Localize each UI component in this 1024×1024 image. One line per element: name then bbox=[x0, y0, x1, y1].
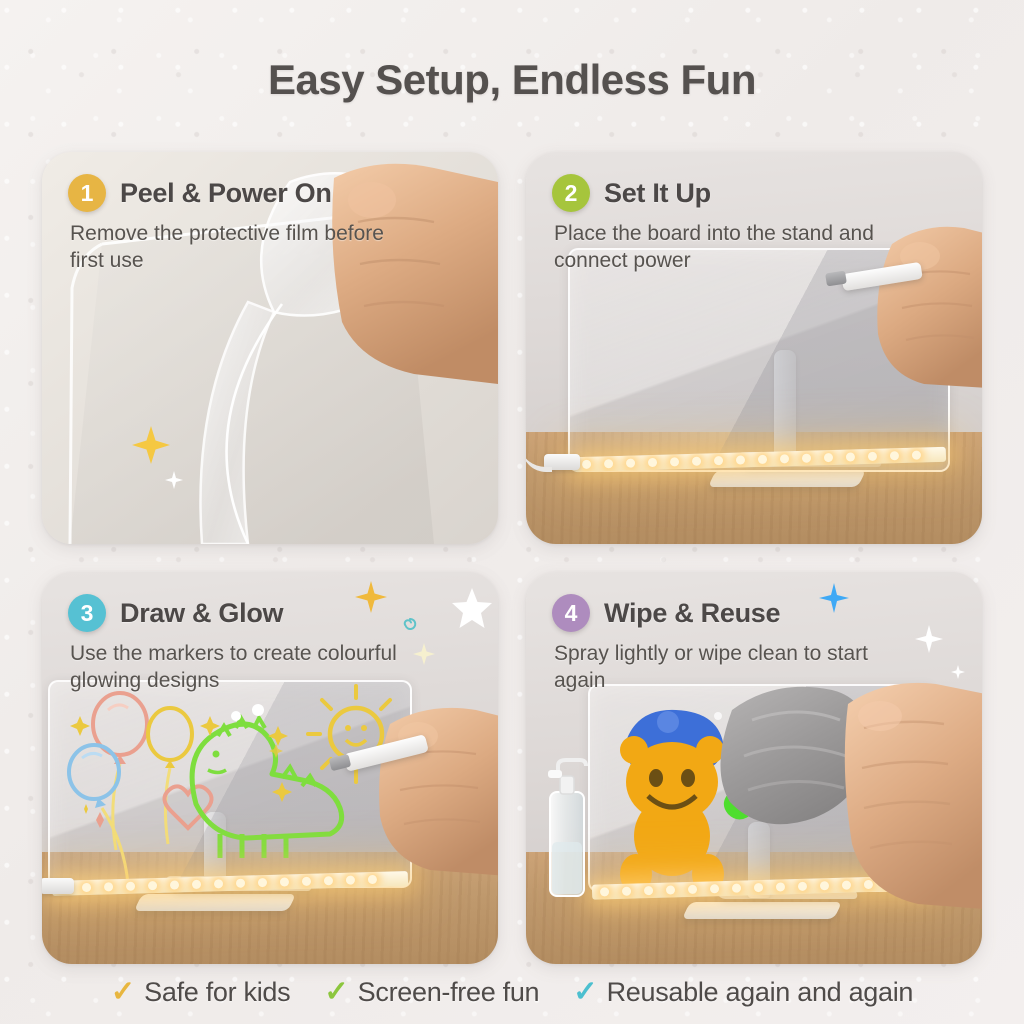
feature-label-3: Reusable again and again bbox=[607, 977, 914, 1008]
swirl-icon-teal-3 bbox=[400, 614, 420, 634]
step-3-description: Use the markers to create colourful glow… bbox=[70, 641, 400, 694]
hand-holding-marker-3 bbox=[338, 700, 498, 880]
feature-item-reusable: ✓ Reusable again and again bbox=[573, 977, 913, 1008]
stand-base-front-3 bbox=[134, 894, 296, 911]
step-2-title-row: 2 Set It Up bbox=[552, 174, 960, 212]
feature-label-1: Safe for kids bbox=[144, 977, 290, 1008]
usb-plug-3 bbox=[42, 878, 74, 894]
step-2-title: Set It Up bbox=[604, 178, 711, 209]
step-2-header: 2 Set It Up Place the board into the sta… bbox=[552, 174, 960, 274]
step-card-4[interactable]: 4 Wipe & Reuse Spray lightly or wipe cle… bbox=[526, 572, 982, 964]
step-card-2[interactable]: 2 Set It Up Place the board into the sta… bbox=[526, 152, 982, 544]
step-3-title: Draw & Glow bbox=[120, 598, 283, 629]
sparkle-icon-cream-3 bbox=[412, 642, 436, 666]
check-icon-2: ✓ bbox=[324, 978, 348, 1007]
step-1-title-row: 1 Peel & Power On bbox=[68, 174, 476, 212]
sparkle-icon-blue-4 bbox=[818, 582, 850, 614]
step-badge-1: 1 bbox=[68, 174, 106, 212]
step-4-header: 4 Wipe & Reuse Spray lightly or wipe cle… bbox=[552, 594, 960, 694]
sparkle-icon-yellow bbox=[130, 424, 172, 466]
step-1-title: Peel & Power On bbox=[120, 178, 332, 209]
step-4-description: Spray lightly or wipe clean to start aga… bbox=[554, 641, 884, 694]
feature-item-safe-for-kids: ✓ Safe for kids bbox=[111, 977, 290, 1008]
page-title: Easy Setup, Endless Fun bbox=[0, 56, 1024, 104]
sparkle-icon-white-small-4 bbox=[950, 664, 966, 680]
step-1-header: 1 Peel & Power On Remove the protective … bbox=[68, 174, 476, 274]
star-icon-white-3 bbox=[450, 586, 494, 630]
feature-item-screen-free-fun: ✓ Screen-free fun bbox=[324, 977, 539, 1008]
step-4-title: Wipe & Reuse bbox=[604, 598, 780, 629]
step-4-title-row: 4 Wipe & Reuse bbox=[552, 594, 960, 632]
spray-bottle-4 bbox=[540, 750, 594, 902]
step-badge-3: 3 bbox=[68, 594, 106, 632]
hand-wiping-4 bbox=[800, 664, 982, 914]
step-card-3[interactable]: 3 Draw & Glow Use the markers to create … bbox=[42, 572, 498, 964]
sparkle-icon-white-small bbox=[164, 470, 184, 490]
step-1-description: Remove the protective film before first … bbox=[70, 221, 400, 274]
step-badge-2: 2 bbox=[552, 174, 590, 212]
check-icon-3: ✓ bbox=[573, 978, 597, 1007]
step-2-description: Place the board into the stand and conne… bbox=[554, 221, 884, 274]
steps-grid: 1 Peel & Power On Remove the protective … bbox=[42, 152, 982, 952]
check-icon-1: ✓ bbox=[111, 978, 135, 1007]
stand-base-front-2 bbox=[708, 470, 866, 487]
feature-list: ✓ Safe for kids ✓ Screen-free fun ✓ Reus… bbox=[0, 977, 1024, 1008]
step-card-1[interactable]: 1 Peel & Power On Remove the protective … bbox=[42, 152, 498, 544]
sparkle-icon-yellow-3 bbox=[354, 580, 388, 614]
sparkle-icon-white-4 bbox=[914, 624, 944, 654]
feature-label-2: Screen-free fun bbox=[358, 977, 540, 1008]
step-badge-4: 4 bbox=[552, 594, 590, 632]
